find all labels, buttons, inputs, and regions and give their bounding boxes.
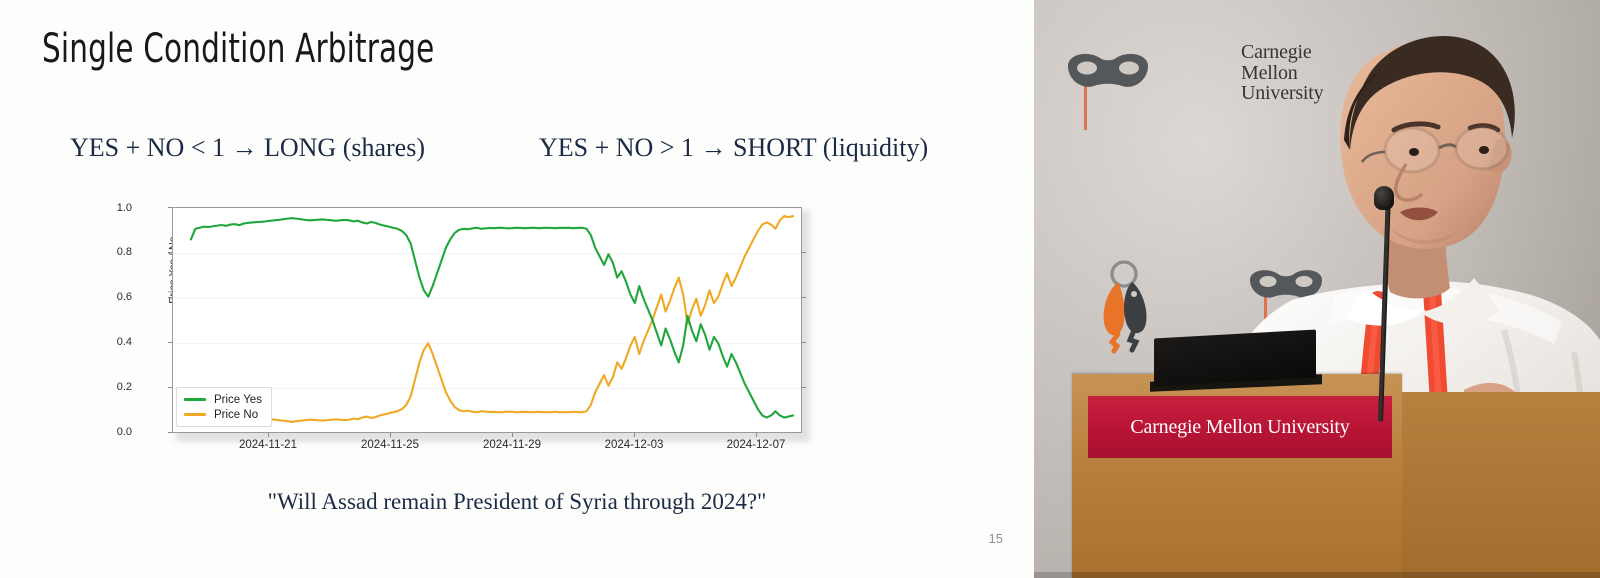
x-tick-label: 2024-12-03 bbox=[579, 439, 689, 451]
y-tick-label: 0.0 bbox=[88, 426, 132, 438]
podium-banner-text: Carnegie Mellon University bbox=[1130, 416, 1349, 439]
x-tick-label: 2024-11-21 bbox=[213, 439, 323, 451]
y-tick-label: 0.4 bbox=[88, 336, 132, 348]
x-tick-mark bbox=[268, 433, 269, 437]
x-tick-mark bbox=[756, 433, 757, 437]
podium-side bbox=[1402, 392, 1600, 578]
formula-short-condition: YES + NO > 1 → SHORT (liquidity) bbox=[539, 133, 928, 163]
x-tick-label: 2024-12-07 bbox=[701, 439, 811, 451]
slide-page-number: 15 bbox=[989, 531, 1003, 546]
microphone-icon bbox=[1374, 186, 1394, 210]
x-tick-mark bbox=[512, 433, 513, 437]
y-tick-mark-right bbox=[802, 387, 806, 388]
y-tick-mark-right bbox=[802, 252, 806, 253]
chart-legend: Price Yes Price No bbox=[176, 387, 272, 427]
y-tick-mark-right bbox=[802, 297, 806, 298]
page-title: Single Condition Arbitrage bbox=[42, 26, 434, 72]
y-tick-label: 0.2 bbox=[88, 381, 132, 393]
legend-item-price-yes: Price Yes bbox=[184, 392, 262, 407]
video-bottom-strip bbox=[1034, 572, 1600, 578]
price-chart: Price Yes / No 1.0 0.8 0.6 0.4 0.2 0.0 bbox=[120, 196, 820, 464]
slide-panel: Single Condition Arbitrage YES + NO < 1 … bbox=[0, 0, 1034, 578]
y-tick-label: 0.8 bbox=[88, 246, 132, 258]
podium-banner: Carnegie Mellon University bbox=[1088, 396, 1392, 458]
legend-swatch-icon bbox=[184, 413, 206, 415]
x-tick-label: 2024-11-25 bbox=[335, 439, 445, 451]
x-tick-label: 2024-11-29 bbox=[457, 439, 567, 451]
laptop-screen bbox=[1154, 329, 1316, 386]
y-tick-mark-right bbox=[802, 342, 806, 343]
x-tick-mark bbox=[390, 433, 391, 437]
y-tick-label: 1.0 bbox=[88, 202, 132, 214]
legend-label: Price No bbox=[214, 409, 258, 421]
speaker-video-panel: Carnegie Mellon University bbox=[1034, 0, 1600, 578]
chart-caption: "Will Assad remain President of Syria th… bbox=[0, 489, 1034, 515]
x-tick-mark bbox=[634, 433, 635, 437]
legend-item-price-no: Price No bbox=[184, 407, 262, 422]
presentation-recording: Single Condition Arbitrage YES + NO < 1 … bbox=[0, 0, 1600, 578]
legend-label: Price Yes bbox=[214, 394, 262, 406]
y-tick-label: 0.6 bbox=[88, 291, 132, 303]
legend-swatch-icon bbox=[184, 398, 206, 400]
formula-long-condition: YES + NO < 1 → LONG (shares) bbox=[70, 133, 425, 163]
